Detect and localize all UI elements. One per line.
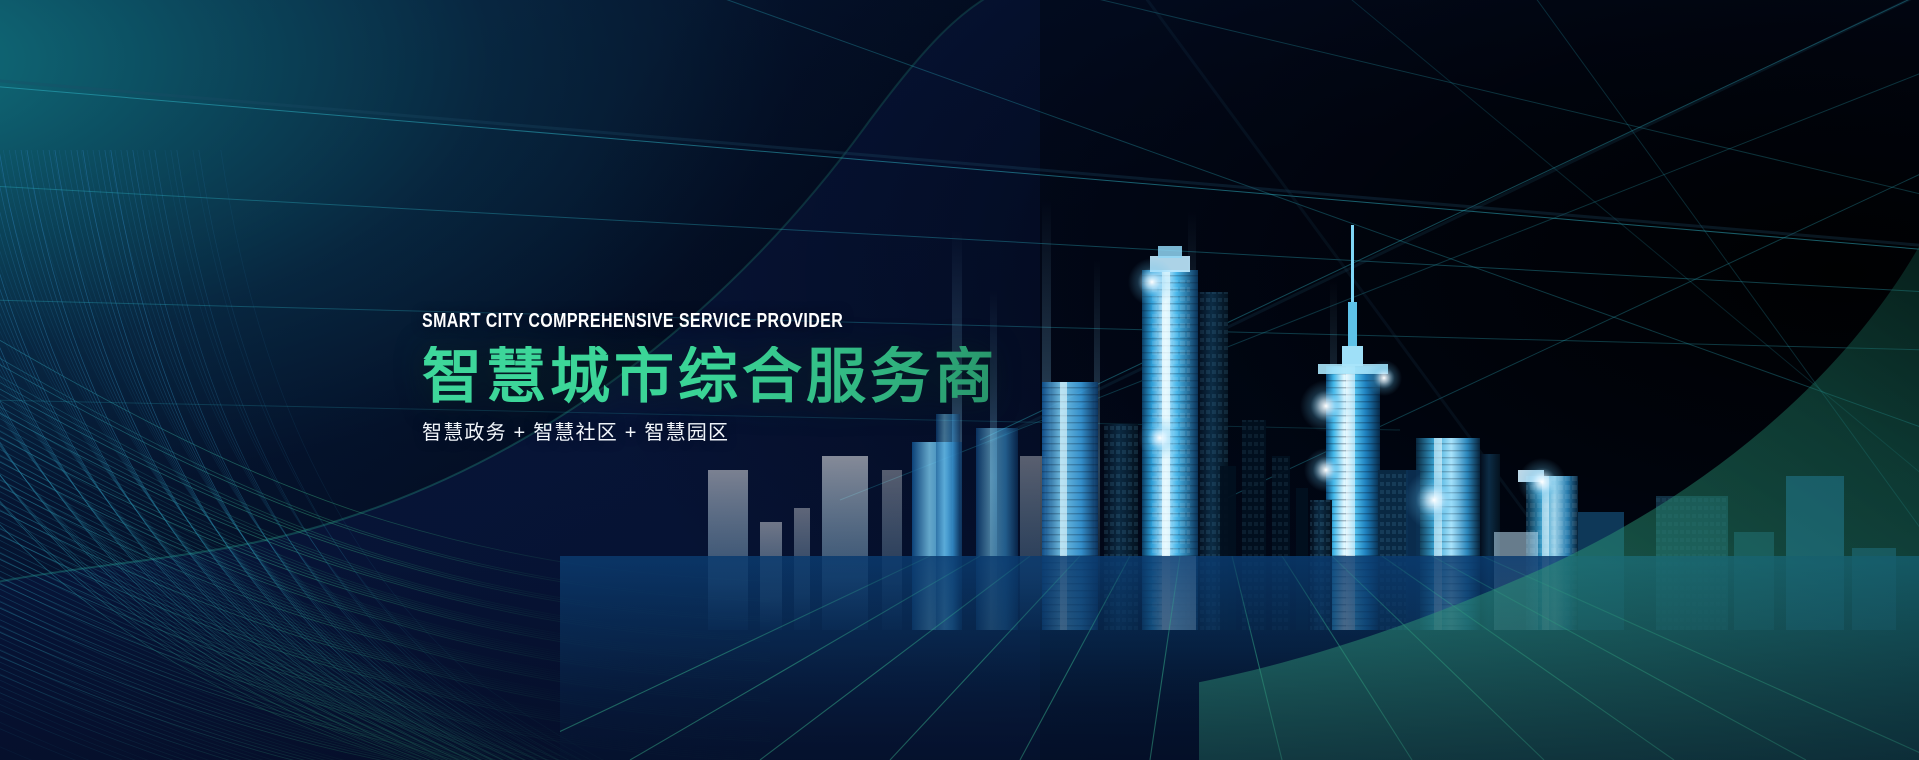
page-title: 智慧城市综合服务商	[422, 346, 1182, 408]
hero-banner: SMART CITY COMPREHENSIVE SERVICE PROVIDE…	[0, 0, 1919, 760]
background-green-sweep	[1199, 120, 1919, 760]
hero-eyebrow: SMART CITY COMPREHENSIVE SERVICE PROVIDE…	[422, 310, 1030, 332]
hero-copy: SMART CITY COMPREHENSIVE SERVICE PROVIDE…	[422, 310, 1182, 445]
hero-subtitle: 智慧政务 + 智慧社区 + 智慧园区	[422, 421, 1182, 445]
